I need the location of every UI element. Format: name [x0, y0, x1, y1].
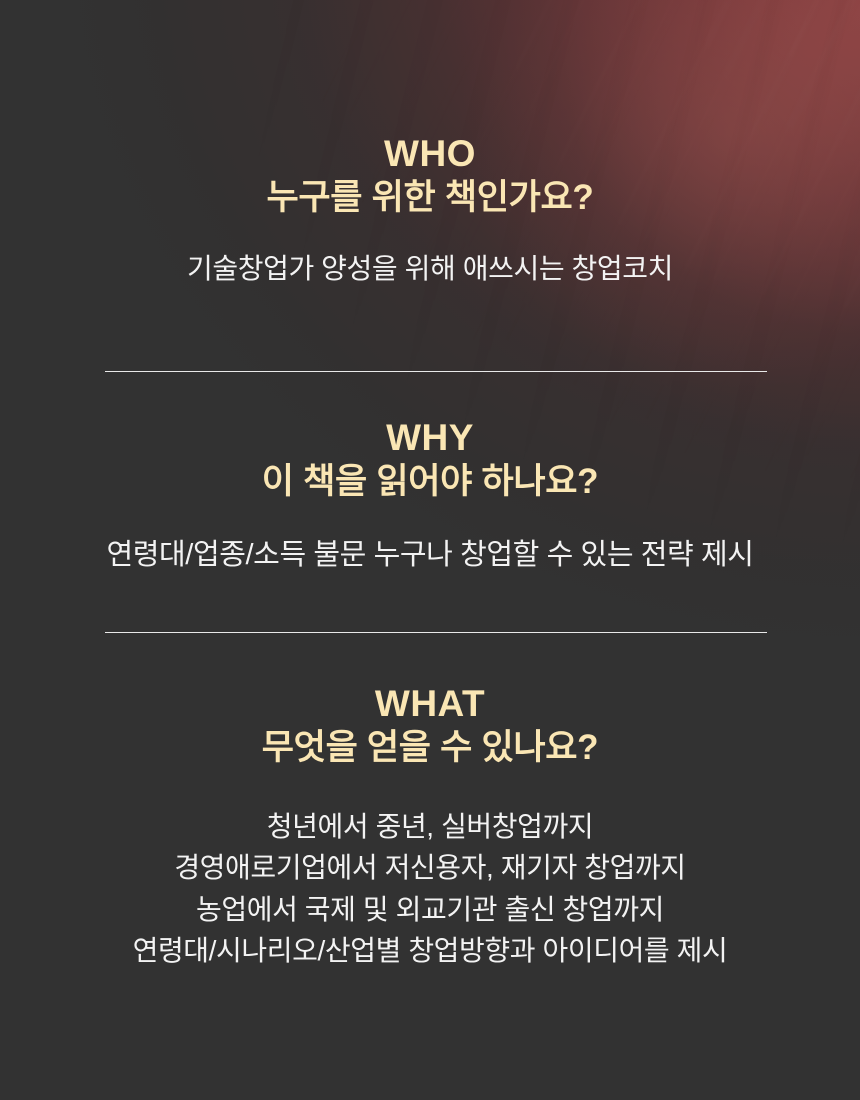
section-what-body: 청년에서 중년, 실버창업까지 경영애로기업에서 저신용자, 재기자 창업까지 …: [0, 806, 860, 972]
section-why-body-line: 연령대/업종/소득 불문 누구나 창업할 수 있는 전략 제시: [0, 534, 860, 577]
section-what-eyebrow: WHAT: [0, 684, 860, 724]
section-who-eyebrow: WHO: [0, 134, 860, 174]
section-what-subhead: 무엇을 얻을 수 있나요?: [0, 726, 860, 770]
section-who-subhead: 누구를 위한 책인가요?: [0, 176, 860, 220]
section-what: WHAT 무엇을 얻을 수 있나요? 청년에서 중년, 실버창업까지 경영애로기…: [0, 684, 860, 972]
section-what-body-line: 경영애로기업에서 저신용자, 재기자 창업까지: [0, 847, 860, 888]
section-what-body-line: 연령대/시나리오/산업별 창업방향과 아이디어를 제시: [0, 930, 860, 971]
section-why-subhead: 이 책을 읽어야 하나요?: [0, 460, 860, 504]
section-why-eyebrow: WHY: [0, 418, 860, 458]
section-who-body: 기술창업가 양성을 위해 애쓰시는 창업코치: [0, 248, 860, 289]
section-divider-1: [105, 371, 767, 372]
content-area: WHO 누구를 위한 책인가요? 기술창업가 양성을 위해 애쓰시는 창업코치 …: [0, 0, 860, 1100]
section-why-body: 연령대/업종/소득 불문 누구나 창업할 수 있는 전략 제시: [0, 534, 860, 577]
promo-page: WHO 누구를 위한 책인가요? 기술창업가 양성을 위해 애쓰시는 창업코치 …: [0, 0, 860, 1100]
section-what-body-line: 청년에서 중년, 실버창업까지: [0, 806, 860, 847]
section-who-body-line: 기술창업가 양성을 위해 애쓰시는 창업코치: [0, 248, 860, 289]
section-what-body-line: 농업에서 국제 및 외교기관 출신 창업까지: [0, 889, 860, 930]
section-divider-2: [105, 632, 767, 633]
section-who: WHO 누구를 위한 책인가요? 기술창업가 양성을 위해 애쓰시는 창업코치: [0, 134, 860, 289]
section-why: WHY 이 책을 읽어야 하나요? 연령대/업종/소득 불문 누구나 창업할 수…: [0, 418, 860, 577]
